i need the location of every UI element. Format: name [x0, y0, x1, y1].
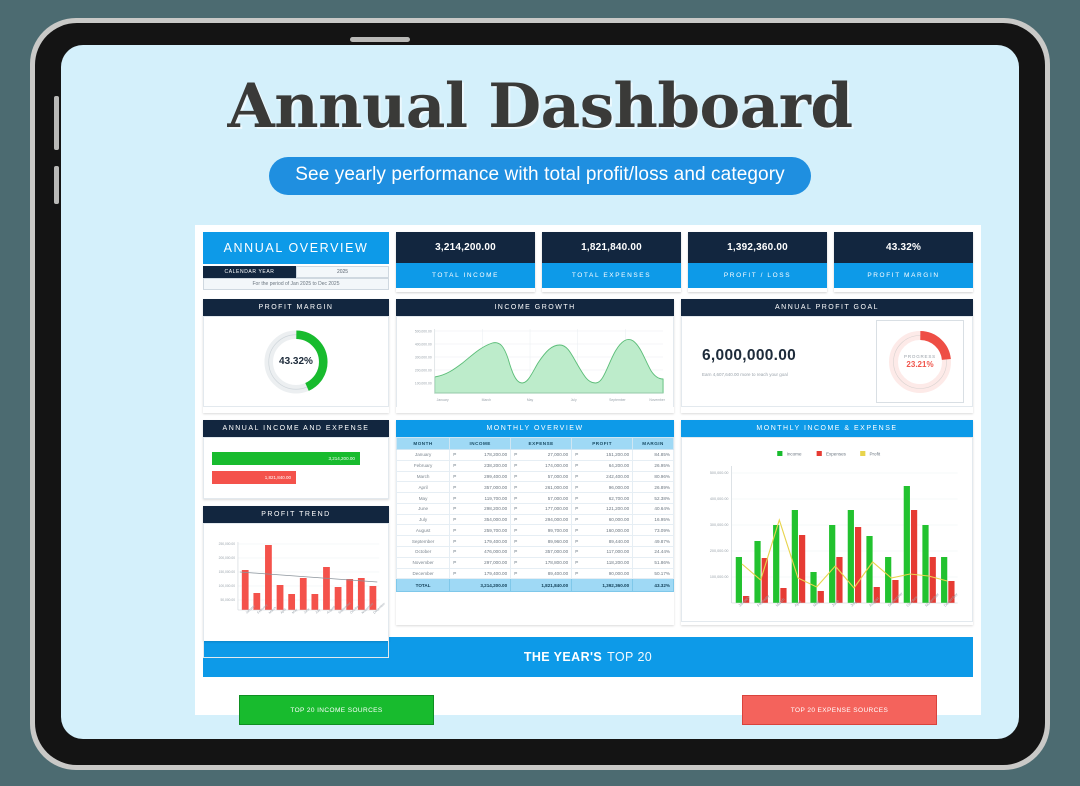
svg-text:500,000.00: 500,000.00 [710, 471, 729, 475]
currency-symbol: ₱ [453, 463, 456, 468]
table-row: February₱238,200.00₱174,000.00₱64,200.00… [397, 460, 674, 471]
bottom-panels-row: ANNUAL INCOME AND EXPENSE 3,214,200.00 1… [203, 420, 973, 625]
monthly-overview-body: January₱178,200.00₱27,000.00₱151,200.008… [397, 450, 674, 579]
currency-symbol: ₱ [514, 506, 517, 511]
top20-income-sources-card[interactable]: TOP 20 INCOME SOURCES [239, 695, 434, 725]
cell-margin: 84.85% [633, 450, 674, 461]
goal-progress-chart: PROGRESS 23.21% [876, 320, 964, 403]
cell-month: September [397, 536, 450, 547]
legend-profit: Profit [870, 452, 881, 457]
annual-overview-title: ANNUAL OVERVIEW [203, 232, 389, 264]
profit-margin-panel-title: PROFIT MARGIN [203, 299, 389, 316]
cell-month: October [397, 547, 450, 558]
table-row: April₱357,000.00₱261,000.00₱96,000.0026.… [397, 482, 674, 493]
cell-profit: ₱62,700.00 [572, 493, 633, 504]
currency-symbol: ₱ [575, 528, 578, 533]
total-income: 3,214,200.00 [450, 579, 511, 592]
currency-symbol: ₱ [514, 485, 517, 490]
monthly-income-expense-panel: MONTHLY INCOME & EXPENSE Income Expenses… [681, 420, 973, 625]
top20-cards: TOP 20 INCOME SOURCES TOP 20 EXPENSE SOU… [203, 695, 973, 725]
cell-margin: 52.38% [633, 493, 674, 504]
annual-income-expense-title: ANNUAL INCOME AND EXPENSE [203, 420, 389, 437]
cell-income: ₱238,200.00 [450, 460, 511, 471]
table-row: January₱178,200.00₱27,000.00₱151,200.008… [397, 450, 674, 461]
cell-expense: ₱174,000.00 [511, 460, 572, 471]
svg-text:200,000.00: 200,000.00 [710, 549, 729, 553]
cell-margin: 50.17% [633, 568, 674, 579]
annual-overview-card: ANNUAL OVERVIEW CALENDAR YEAR 2025 For t… [203, 232, 389, 292]
currency-symbol: ₱ [514, 496, 517, 501]
cell-expense: ₱261,000.00 [511, 482, 572, 493]
dashboard-header: Annual Dashboard See yearly performance … [61, 45, 1019, 195]
cell-margin: 73.09% [633, 525, 674, 536]
profit-trend-svg: 50,000.00 100,000.00 150,000.00 200,000.… [207, 528, 385, 633]
svg-text:November: November [649, 398, 665, 402]
currency-symbol: ₱ [514, 452, 517, 457]
cell-income: ₱354,000.00 [450, 514, 511, 525]
income-growth-svg: 100,000.00 200,000.00 300,000.00 400,000… [397, 317, 673, 408]
currency-symbol: ₱ [514, 539, 517, 544]
cell-month: May [397, 493, 450, 504]
cell-month: August [397, 525, 450, 536]
currency-symbol: ₱ [453, 539, 456, 544]
cell-margin: 51.86% [633, 557, 674, 568]
profit-trend-panel: PROFIT TREND [203, 506, 389, 641]
page-title: Annual Dashboard [61, 71, 1019, 142]
cell-profit: ₱64,200.00 [572, 460, 633, 471]
col-profit: PROFIT [572, 438, 633, 450]
page-subtitle: See yearly performance with total profit… [269, 157, 810, 195]
table-row: May₱119,700.00₱57,000.00₱62,700.0052.38% [397, 493, 674, 504]
currency-symbol: ₱ [453, 528, 456, 533]
monthly-income-expense-svg: Income Expenses Profit [686, 442, 968, 619]
currency-symbol: ₱ [575, 496, 578, 501]
tablet-power-button[interactable] [54, 96, 59, 150]
monthly-income-expense-title: MONTHLY INCOME & EXPENSE [681, 420, 973, 437]
annual-profit-goal-panel: ANNUAL PROFIT GOAL 6,000,000.00 Earn 4,6… [681, 299, 973, 413]
svg-text:100,000.00: 100,000.00 [219, 584, 236, 588]
spreadsheet-dashboard: ANNUAL OVERVIEW CALENDAR YEAR 2025 For t… [195, 225, 981, 715]
svg-text:May: May [527, 398, 534, 402]
kpi-profit-margin-value: 43.32% [834, 232, 973, 263]
currency-symbol: ₱ [514, 549, 517, 554]
kpi-profit-loss-label: PROFIT / LOSS [688, 263, 827, 288]
currency-symbol: ₱ [575, 517, 578, 522]
kpi-strip: ANNUAL OVERVIEW CALENDAR YEAR 2025 For t… [203, 232, 973, 292]
annual-profit-goal-body: 6,000,000.00 Earn 4,607,640.00 more to r… [681, 316, 973, 407]
tablet-frame: Annual Dashboard See yearly performance … [30, 18, 1050, 770]
profit-trend-chart: 50,000.00 100,000.00 150,000.00 200,000.… [203, 523, 389, 658]
cell-profit: ₱60,000.00 [572, 514, 633, 525]
currency-symbol: ₱ [453, 485, 456, 490]
currency-symbol: ₱ [453, 474, 456, 479]
cell-profit: ₱118,200.00 [572, 557, 633, 568]
currency-symbol: ₱ [453, 517, 456, 522]
annual-income-bar: 3,214,200.00 [212, 452, 360, 465]
svg-text:100,000.00: 100,000.00 [710, 575, 729, 579]
cell-income: ₱476,000.00 [450, 547, 511, 558]
cell-margin: 24.44% [633, 547, 674, 558]
svg-text:400,000.00: 400,000.00 [415, 342, 432, 346]
svg-text:50,000.00: 50,000.00 [220, 598, 235, 602]
total-profit: 1,392,360.00 [572, 579, 633, 592]
currency-symbol: ₱ [453, 549, 456, 554]
income-growth-panel-title: INCOME GROWTH [396, 299, 674, 316]
table-row: December₱179,400.00₱89,400.00₱90,000.005… [397, 568, 674, 579]
currency-symbol: ₱ [453, 560, 456, 565]
profit-margin-donut-value: 43.32% [279, 356, 313, 367]
cell-margin: 49.87% [633, 536, 674, 547]
cell-profit: ₱90,000.00 [572, 568, 633, 579]
table-row: June₱298,200.00₱177,000.00₱121,200.0040.… [397, 503, 674, 514]
cell-month: January [397, 450, 450, 461]
tablet-screen: Annual Dashboard See yearly performance … [61, 45, 1019, 739]
svg-text:200,000.00: 200,000.00 [219, 556, 236, 560]
cell-expense: ₱89,400.00 [511, 568, 572, 579]
goal-progress-value: 23.21% [906, 360, 933, 369]
cell-income: ₱179,400.00 [450, 536, 511, 547]
kpi-total-expenses-label: TOTAL EXPENSES [542, 263, 681, 288]
left-column: ANNUAL INCOME AND EXPENSE 3,214,200.00 1… [203, 420, 389, 625]
cell-month: November [397, 557, 450, 568]
tablet-volume-button[interactable] [54, 166, 59, 204]
currency-symbol: ₱ [575, 549, 578, 554]
cell-expense: ₱294,000.00 [511, 514, 572, 525]
table-header-row: MONTH INCOME EXPENSE PROFIT MARGIN [397, 438, 674, 450]
total-margin: 43.32% [633, 579, 674, 592]
kpi-profit-loss-value: 1,392,360.00 [688, 232, 827, 263]
cell-month: February [397, 460, 450, 471]
cell-income: ₱179,400.00 [450, 568, 511, 579]
table-row: August₱259,700.00₱99,700.00₱160,000.0073… [397, 525, 674, 536]
cell-expense: ₱27,000.00 [511, 450, 572, 461]
table-total-row: TOTAL 3,214,200.00 1,821,840.00 1,392,36… [397, 579, 674, 592]
cell-income: ₱357,000.00 [450, 482, 511, 493]
cell-expense: ₱57,000.00 [511, 471, 572, 482]
col-expense: EXPENSE [511, 438, 572, 450]
currency-symbol: ₱ [575, 485, 578, 490]
kpi-profit-loss: 1,392,360.00 PROFIT / LOSS [688, 232, 827, 292]
kpi-profit-margin-label: PROFIT MARGIN [834, 263, 973, 288]
col-margin: MARGIN [633, 438, 674, 450]
goal-progress-label: PROGRESS [904, 354, 936, 359]
cell-income: ₱297,000.00 [450, 557, 511, 568]
monthly-overview-panel: MONTHLY OVERVIEW MONTH INCOME EXPENSE PR… [396, 420, 674, 625]
svg-text:July: July [571, 398, 577, 402]
cell-margin: 40.64% [633, 503, 674, 514]
currency-symbol: ₱ [575, 452, 578, 457]
currency-symbol: ₱ [514, 474, 517, 479]
currency-symbol: ₱ [575, 539, 578, 544]
currency-symbol: ₱ [514, 571, 517, 576]
profit-trend-title: PROFIT TREND [203, 506, 389, 523]
cell-margin: 80.96% [633, 471, 674, 482]
cell-income: ₱178,200.00 [450, 450, 511, 461]
calendar-year-label: CALENDAR YEAR [203, 266, 296, 278]
currency-symbol: ₱ [575, 474, 578, 479]
kpi-total-income: 3,214,200.00 TOTAL INCOME [396, 232, 535, 292]
cell-expense: ₱177,000.00 [511, 503, 572, 514]
table-row: September₱179,400.00₱89,960.00₱89,440.00… [397, 536, 674, 547]
monthly-overview-title: MONTHLY OVERVIEW [396, 420, 674, 437]
cell-month: April [397, 482, 450, 493]
cell-margin: 26.89% [633, 482, 674, 493]
cell-profit: ₱160,000.00 [572, 525, 633, 536]
chart-legend: Income Expenses Profit [777, 451, 881, 457]
top20-expense-sources-card[interactable]: TOP 20 EXPENSE SOURCES [742, 695, 937, 725]
svg-text:March: March [482, 398, 491, 402]
period-text: For the period of Jan 2025 to Dec 2025 [203, 278, 389, 290]
kpi-total-expenses-value: 1,821,840.00 [542, 232, 681, 263]
currency-symbol: ₱ [453, 452, 456, 457]
cell-income: ₱259,700.00 [450, 525, 511, 536]
table-row: July₱354,000.00₱294,000.00₱60,000.0016.9… [397, 514, 674, 525]
cell-expense: ₱99,700.00 [511, 525, 572, 536]
svg-text:September: September [609, 398, 626, 402]
table-row: November₱297,000.00₱178,800.00₱118,200.0… [397, 557, 674, 568]
calendar-year-input[interactable]: 2025 [296, 266, 389, 278]
svg-text:400,000.00: 400,000.00 [710, 497, 729, 501]
svg-text:January: January [437, 398, 449, 402]
svg-text:250,000.00: 250,000.00 [219, 542, 236, 546]
total-label: TOTAL [397, 579, 450, 592]
monthly-overview-table: MONTH INCOME EXPENSE PROFIT MARGIN Janua… [396, 437, 674, 592]
profit-margin-panel: PROFIT MARGIN 43.32% [203, 299, 389, 413]
svg-text:100,000.00: 100,000.00 [415, 381, 432, 385]
col-month: MONTH [397, 438, 450, 450]
tablet-top-button[interactable] [350, 37, 410, 42]
svg-text:300,000.00: 300,000.00 [710, 523, 729, 527]
cell-profit: ₱89,440.00 [572, 536, 633, 547]
svg-text:500,000.00: 500,000.00 [415, 329, 432, 333]
cell-margin: 26.95% [633, 460, 674, 471]
legend-income: Income [787, 452, 802, 457]
top20-banner-strong: THE YEAR'S [524, 650, 602, 664]
kpi-total-income-label: TOTAL INCOME [396, 263, 535, 288]
currency-symbol: ₱ [514, 560, 517, 565]
cell-expense: ₱357,000.00 [511, 547, 572, 558]
monthly-income-expense-chart: Income Expenses Profit [681, 437, 973, 622]
tablet-bezel: Annual Dashboard See yearly performance … [35, 23, 1045, 765]
kpi-total-expenses: 1,821,840.00 TOTAL EXPENSES [542, 232, 681, 292]
currency-symbol: ₱ [514, 463, 517, 468]
cell-month: June [397, 503, 450, 514]
top20-banner-light: TOP 20 [607, 650, 652, 664]
svg-text:300,000.00: 300,000.00 [415, 355, 432, 359]
annual-income-expense-panel: ANNUAL INCOME AND EXPENSE 3,214,200.00 1… [203, 420, 389, 499]
currency-symbol: ₱ [514, 517, 517, 522]
mid-panels-row: PROFIT MARGIN 43.32% [203, 299, 973, 413]
cell-profit: ₱242,400.00 [572, 471, 633, 482]
currency-symbol: ₱ [575, 463, 578, 468]
currency-symbol: ₱ [575, 560, 578, 565]
cell-month: July [397, 514, 450, 525]
table-row: March₱299,400.00₱57,000.00₱242,400.0080.… [397, 471, 674, 482]
currency-symbol: ₱ [575, 506, 578, 511]
cell-month: March [397, 471, 450, 482]
currency-symbol: ₱ [453, 571, 456, 576]
currency-symbol: ₱ [453, 496, 456, 501]
cell-income: ₱299,400.00 [450, 471, 511, 482]
cell-expense: ₱89,960.00 [511, 536, 572, 547]
kpi-total-income-value: 3,214,200.00 [396, 232, 535, 263]
legend-expenses: Expenses [826, 452, 847, 457]
cell-income: ₱298,200.00 [450, 503, 511, 514]
svg-text:150,000.00: 150,000.00 [219, 570, 236, 574]
income-growth-chart: 100,000.00 200,000.00 300,000.00 400,000… [396, 316, 674, 407]
col-income: INCOME [450, 438, 511, 450]
annual-expense-bar: 1,821,840.00 [212, 471, 296, 484]
svg-text:200,000.00: 200,000.00 [415, 368, 432, 372]
currency-symbol: ₱ [514, 528, 517, 533]
profit-margin-chart: 43.32% [203, 316, 389, 407]
calendar-year-row: CALENDAR YEAR 2025 [203, 266, 389, 278]
cell-margin: 16.95% [633, 514, 674, 525]
currency-symbol: ₱ [453, 506, 456, 511]
total-expense: 1,821,840.00 [511, 579, 572, 592]
income-growth-panel: INCOME GROWTH [396, 299, 674, 413]
cell-expense: ₱178,800.00 [511, 557, 572, 568]
cell-profit: ₱121,200.00 [572, 503, 633, 514]
currency-symbol: ₱ [575, 571, 578, 576]
annual-profit-goal-title: ANNUAL PROFIT GOAL [681, 299, 973, 316]
cell-profit: ₱151,200.00 [572, 450, 633, 461]
annual-income-expense-chart: 3,214,200.00 1,821,840.00 [203, 437, 389, 499]
cell-month: December [397, 568, 450, 579]
table-row: October₱476,000.00₱357,000.00₱117,000.00… [397, 547, 674, 558]
cell-profit: ₱96,000.00 [572, 482, 633, 493]
cell-income: ₱119,700.00 [450, 493, 511, 504]
goal-amount: 6,000,000.00 [702, 347, 876, 365]
goal-note: Earn 4,607,640.00 more to reach your goa… [702, 372, 876, 377]
goal-text-block: 6,000,000.00 Earn 4,607,640.00 more to r… [690, 347, 876, 377]
cell-profit: ₱117,000.00 [572, 547, 633, 558]
kpi-profit-margin: 43.32% PROFIT MARGIN [834, 232, 973, 292]
cell-expense: ₱57,000.00 [511, 493, 572, 504]
